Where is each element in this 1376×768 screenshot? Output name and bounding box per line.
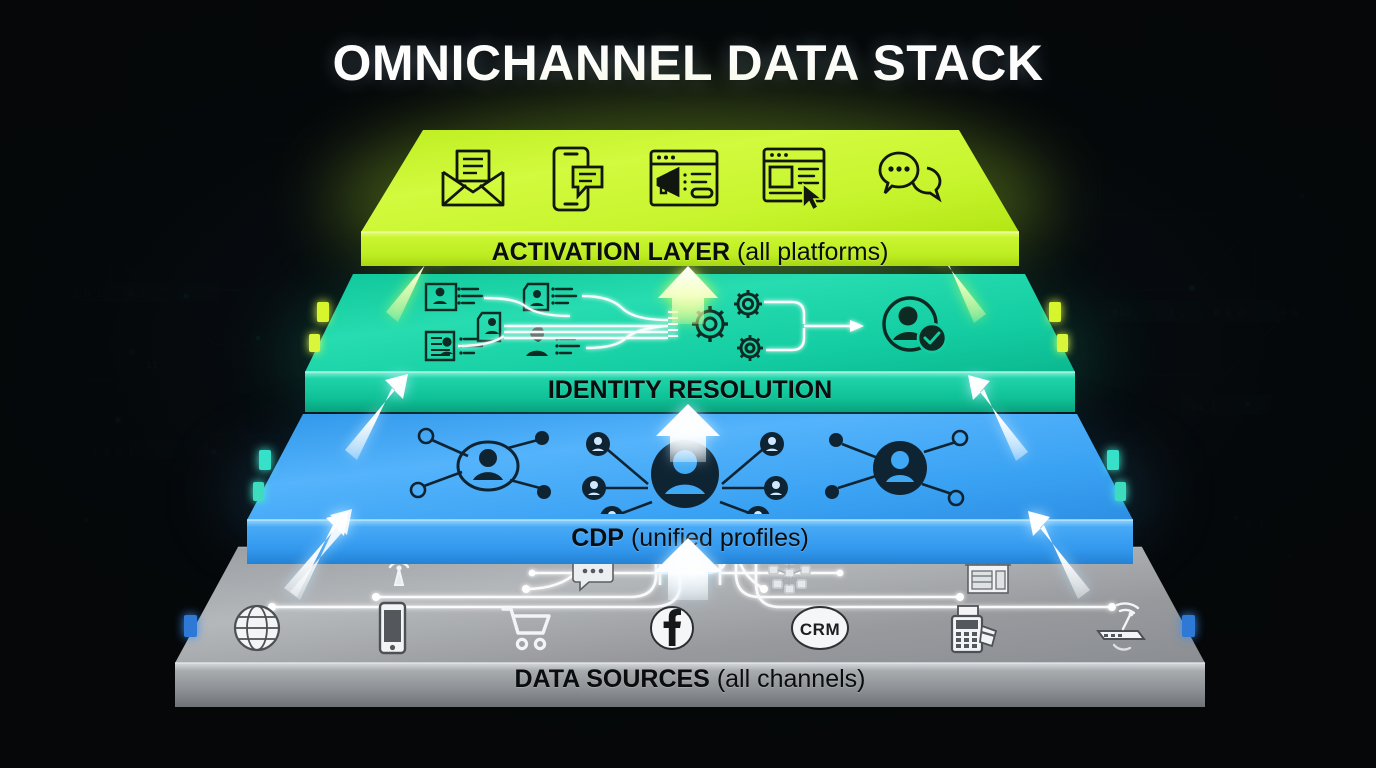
profile-card-record-icon — [426, 284, 482, 310]
activation-icons — [440, 142, 945, 216]
person-record-icon — [524, 284, 576, 310]
activation-label-rest: (all platforms) — [737, 238, 888, 266]
mobile-sms-icon[interactable] — [548, 145, 606, 213]
identity-edge-chip-left — [317, 302, 329, 322]
cdp-label: CDP (unified profiles) — [235, 524, 1145, 553]
cdp-edge-chip-left-2 — [253, 482, 264, 501]
data-sources-label-bold: DATA SOURCES — [514, 665, 709, 693]
activation-label: ACTIVATION LAYER (all platforms) — [355, 238, 1025, 267]
edge-chip-right — [1182, 615, 1195, 637]
edge-chip-left — [184, 615, 197, 637]
globe-web-icon[interactable] — [230, 601, 284, 655]
cdp-edge-chip-right-2 — [1115, 482, 1126, 501]
identity-label: IDENTITY RESOLUTION — [295, 376, 1085, 405]
facebook-social-icon[interactable] — [645, 601, 699, 655]
contact-record-icon — [478, 313, 500, 341]
layer-data-sources[interactable]: CRM — [160, 545, 1220, 710]
identity-edge-chip-right — [1049, 302, 1061, 322]
email-envelope-icon[interactable] — [440, 148, 506, 210]
cdp-label-rest: (unified profiles) — [631, 524, 809, 552]
profile-network-cluster-right-icon — [825, 431, 967, 505]
cdp-label-bold: CDP — [571, 524, 624, 552]
chat-bubbles-icon[interactable] — [875, 149, 945, 209]
identity-matching-graphic — [420, 280, 965, 366]
layer-identity-resolution[interactable]: IDENTITY RESOLUTION — [295, 272, 1085, 414]
shopping-cart-icon[interactable] — [499, 603, 557, 653]
page-title: OMNICHANNEL DATA STACK — [0, 34, 1376, 92]
data-sources-icons-bottom: CRM — [230, 601, 1150, 655]
identity-label-bold: IDENTITY RESOLUTION — [548, 376, 832, 404]
cdp-edge-chip-right — [1107, 450, 1119, 470]
anonymous-record-icon — [526, 326, 579, 356]
profile-network-cluster-left-icon — [411, 429, 551, 499]
browser-content-cursor-icon[interactable] — [761, 146, 833, 212]
identity-edge-chip-left-2 — [309, 334, 320, 352]
crm-badge-icon[interactable]: CRM — [787, 601, 853, 655]
verified-profile-icon — [884, 298, 946, 352]
cdp-edge-chip-left — [259, 450, 271, 470]
gears-matching-icon — [692, 290, 763, 361]
browser-ad-megaphone-icon[interactable] — [648, 148, 720, 210]
pos-terminal-icon[interactable] — [940, 600, 1002, 656]
router-signal-icon[interactable] — [1090, 601, 1150, 655]
activation-label-bold: ACTIVATION LAYER — [492, 238, 730, 266]
identity-edge-chip-right-2 — [1057, 334, 1068, 352]
mobile-device-icon[interactable] — [372, 600, 412, 656]
layer-cdp[interactable]: CDP (unified profiles) — [235, 412, 1145, 567]
layer-activation[interactable]: ACTIVATION LAYER (all platforms) — [355, 128, 1025, 268]
data-sources-label: DATA SOURCES (all channels) — [160, 665, 1220, 694]
cdp-profile-networks — [390, 422, 1010, 514]
profile-network-hub-center-icon — [582, 432, 788, 514]
svg-text:CRM: CRM — [800, 620, 840, 639]
diagram-canvas: 0101 , 0 0 00 0 b1 11 0 1 0 11 0 0 1 0 1… — [0, 0, 1376, 768]
data-sources-label-rest: (all channels) — [717, 665, 866, 693]
